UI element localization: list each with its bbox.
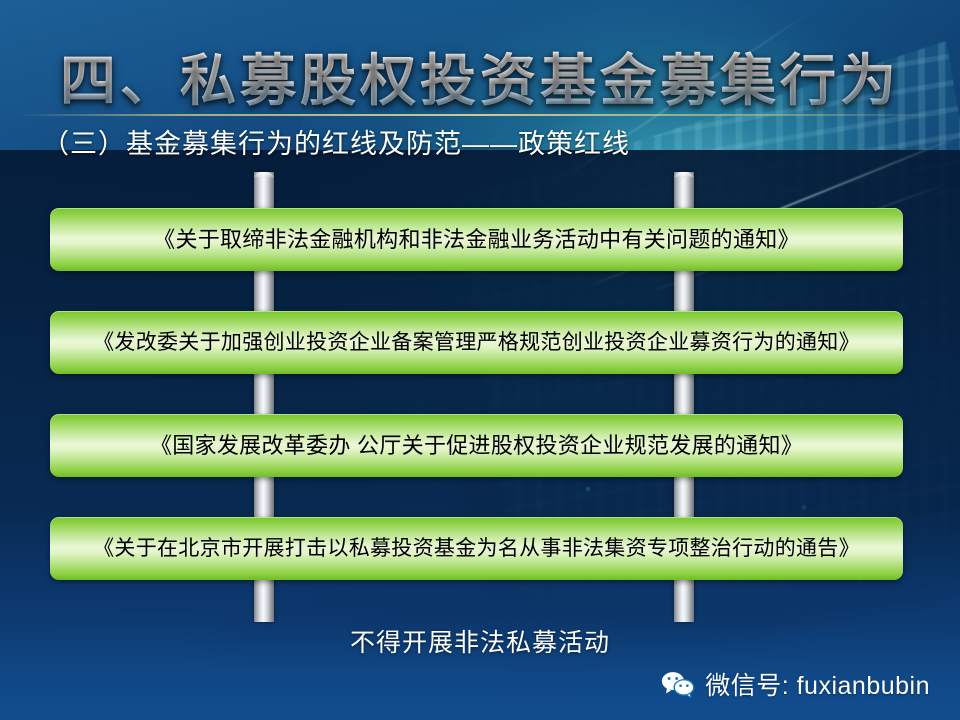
- regulation-bar[interactable]: 《发改委关于加强创业投资企业备案管理严格规范创业投资企业募资行为的通知》: [50, 311, 903, 374]
- regulation-bar[interactable]: 《关于在北京市开展打击以私募投资基金为名从事非法集资专项整治行动的通告》: [50, 517, 903, 580]
- wechat-icon: [661, 670, 695, 698]
- regulation-bar-label: 《发改委关于加强创业投资企业备案管理严格规范创业投资企业募资行为的通知》: [83, 332, 870, 353]
- slide-subtitle: （三）基金募集行为的红线及防范——政策红线: [42, 122, 630, 161]
- regulation-bar-label: 《国家发展改革委办 公厅关于促进股权投资企业规范发展的通知》: [140, 435, 813, 457]
- wechat-watermark: 微信号: fuxianbubin: [661, 666, 930, 702]
- regulation-bar[interactable]: 《关于取缔非法金融机构和非法金融业务活动中有关问题的通知》: [50, 208, 903, 271]
- regulation-bar-label: 《关于取缔非法金融机构和非法金融业务活动中有关问题的通知》: [143, 229, 810, 251]
- regulation-bar-label: 《关于在北京市开展打击以私募投资基金为名从事非法集资专项整治行动的通告》: [83, 538, 870, 559]
- slide-canvas: 四、私募股权投资基金募集行为 （三）基金募集行为的红线及防范——政策红线 《关于…: [0, 0, 960, 720]
- footer-note: 不得开展非法私募活动: [0, 623, 960, 659]
- post-cap-icon: [254, 172, 274, 178]
- regulation-bar[interactable]: 《国家发展改革委办 公厅关于促进股权投资企业规范发展的通知》: [50, 414, 903, 477]
- wechat-id-label: 微信号: fuxianbubin: [705, 666, 930, 702]
- post-cap-icon: [674, 172, 694, 178]
- title-divider-rule: [16, 114, 944, 116]
